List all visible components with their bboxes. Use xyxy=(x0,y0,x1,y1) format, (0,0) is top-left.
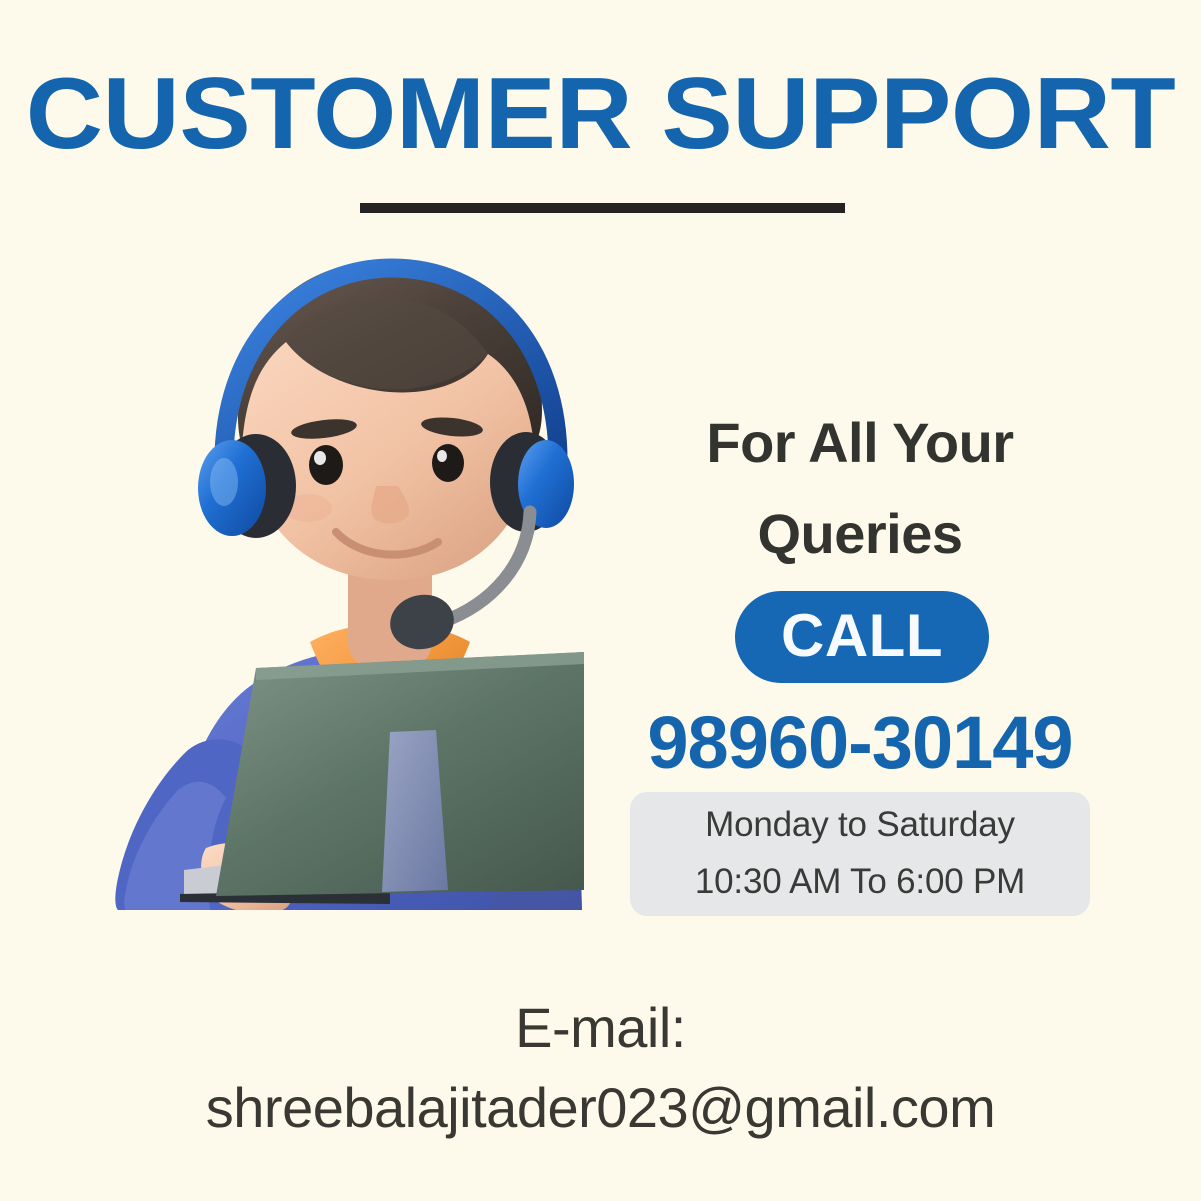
business-hours-box: Monday to Saturday 10:30 AM To 6:00 PM xyxy=(630,792,1090,916)
tagline: For All Your Queries xyxy=(610,398,1110,579)
page-title: CUSTOMER SUPPORT xyxy=(0,64,1201,165)
email-address[interactable]: shreebalajitader023@gmail.com xyxy=(0,1080,1201,1136)
call-button[interactable]: CALL xyxy=(735,591,989,683)
tagline-line-2: Queries xyxy=(610,489,1110,580)
title-divider xyxy=(360,203,845,213)
email-label: E-mail: xyxy=(0,1000,1201,1056)
business-hours-days: Monday to Saturday xyxy=(705,797,1015,854)
tagline-line-1: For All Your xyxy=(706,411,1013,474)
customer-support-poster: CUSTOMER SUPPORT xyxy=(0,0,1201,1201)
call-button-label: CALL xyxy=(781,606,943,669)
business-hours-time: 10:30 AM To 6:00 PM xyxy=(695,854,1025,911)
phone-number[interactable]: 98960-30149 xyxy=(600,706,1120,780)
support-agent-illustration xyxy=(60,250,600,910)
laptop-icon xyxy=(180,652,584,904)
